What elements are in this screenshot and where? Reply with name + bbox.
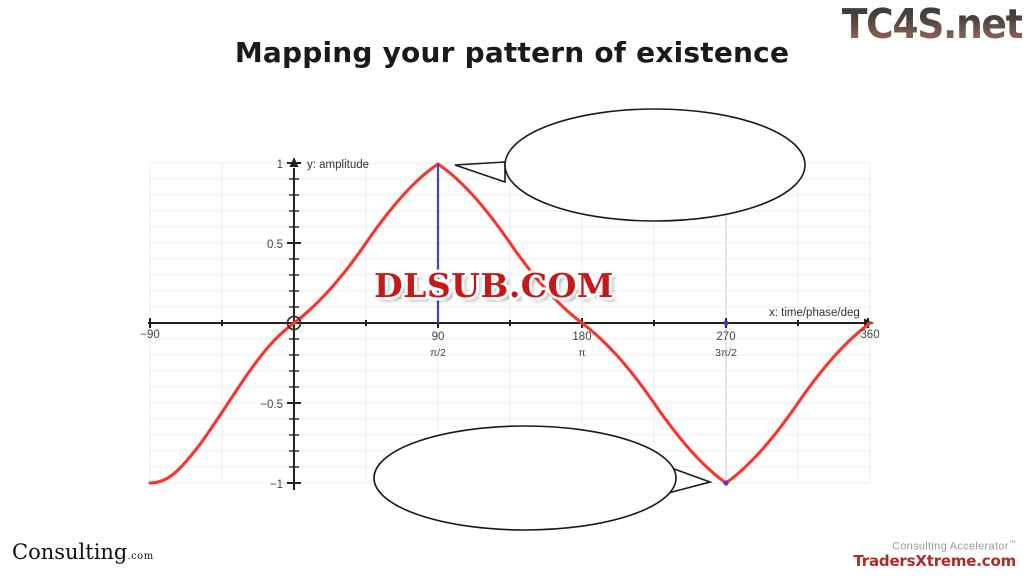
x-axis-label: x: time/phase/deg [769, 307, 860, 319]
consulting-logo-suffix: .com [127, 551, 153, 562]
dlsub-watermark: DLSUB.COM [374, 266, 614, 305]
y-axis-label: y: amplitude [307, 159, 369, 171]
consulting-accelerator-text: Consulting Accelerator [892, 541, 1009, 553]
trademark-symbol: ™ [1009, 540, 1016, 547]
peak-callout[interactable] [455, 109, 805, 221]
y-tick-label-neg1: −1 [270, 479, 283, 491]
x-tick-sublabel-180: π [578, 347, 585, 359]
tradersxtreme-watermark: TradersXtreme.com [853, 554, 1016, 570]
x-tick-label-180: 180 [572, 331, 591, 343]
x-tick-label-90: 90 [432, 331, 445, 343]
y-tick-label-1: 1 [277, 159, 283, 171]
axis-point-270-marker [723, 320, 728, 325]
trough-callout[interactable] [374, 426, 710, 530]
consulting-logo-brand: Consulting [12, 540, 127, 564]
bottom-right-watermarks: Consulting Accelerator™ TradersXtreme.co… [853, 540, 1016, 570]
x-tick-label-360: 360 [860, 329, 879, 341]
y-tick-label-0p5: 0.5 [267, 239, 283, 251]
slide-canvas: Mapping your pattern of existence TC4S.n… [0, 0, 1024, 576]
x-tick-sublabel-270: 3π/2 [715, 347, 737, 359]
consulting-logo: Consulting.com [12, 540, 154, 564]
x-tick-label-270: 270 [716, 331, 735, 343]
trough-point-marker [723, 480, 728, 485]
x-tick-sublabel-90: π/2 [430, 347, 446, 359]
y-tick-label-neg0p5: −0.5 [260, 399, 283, 411]
x-tick-label-neg90: −90 [140, 329, 160, 341]
